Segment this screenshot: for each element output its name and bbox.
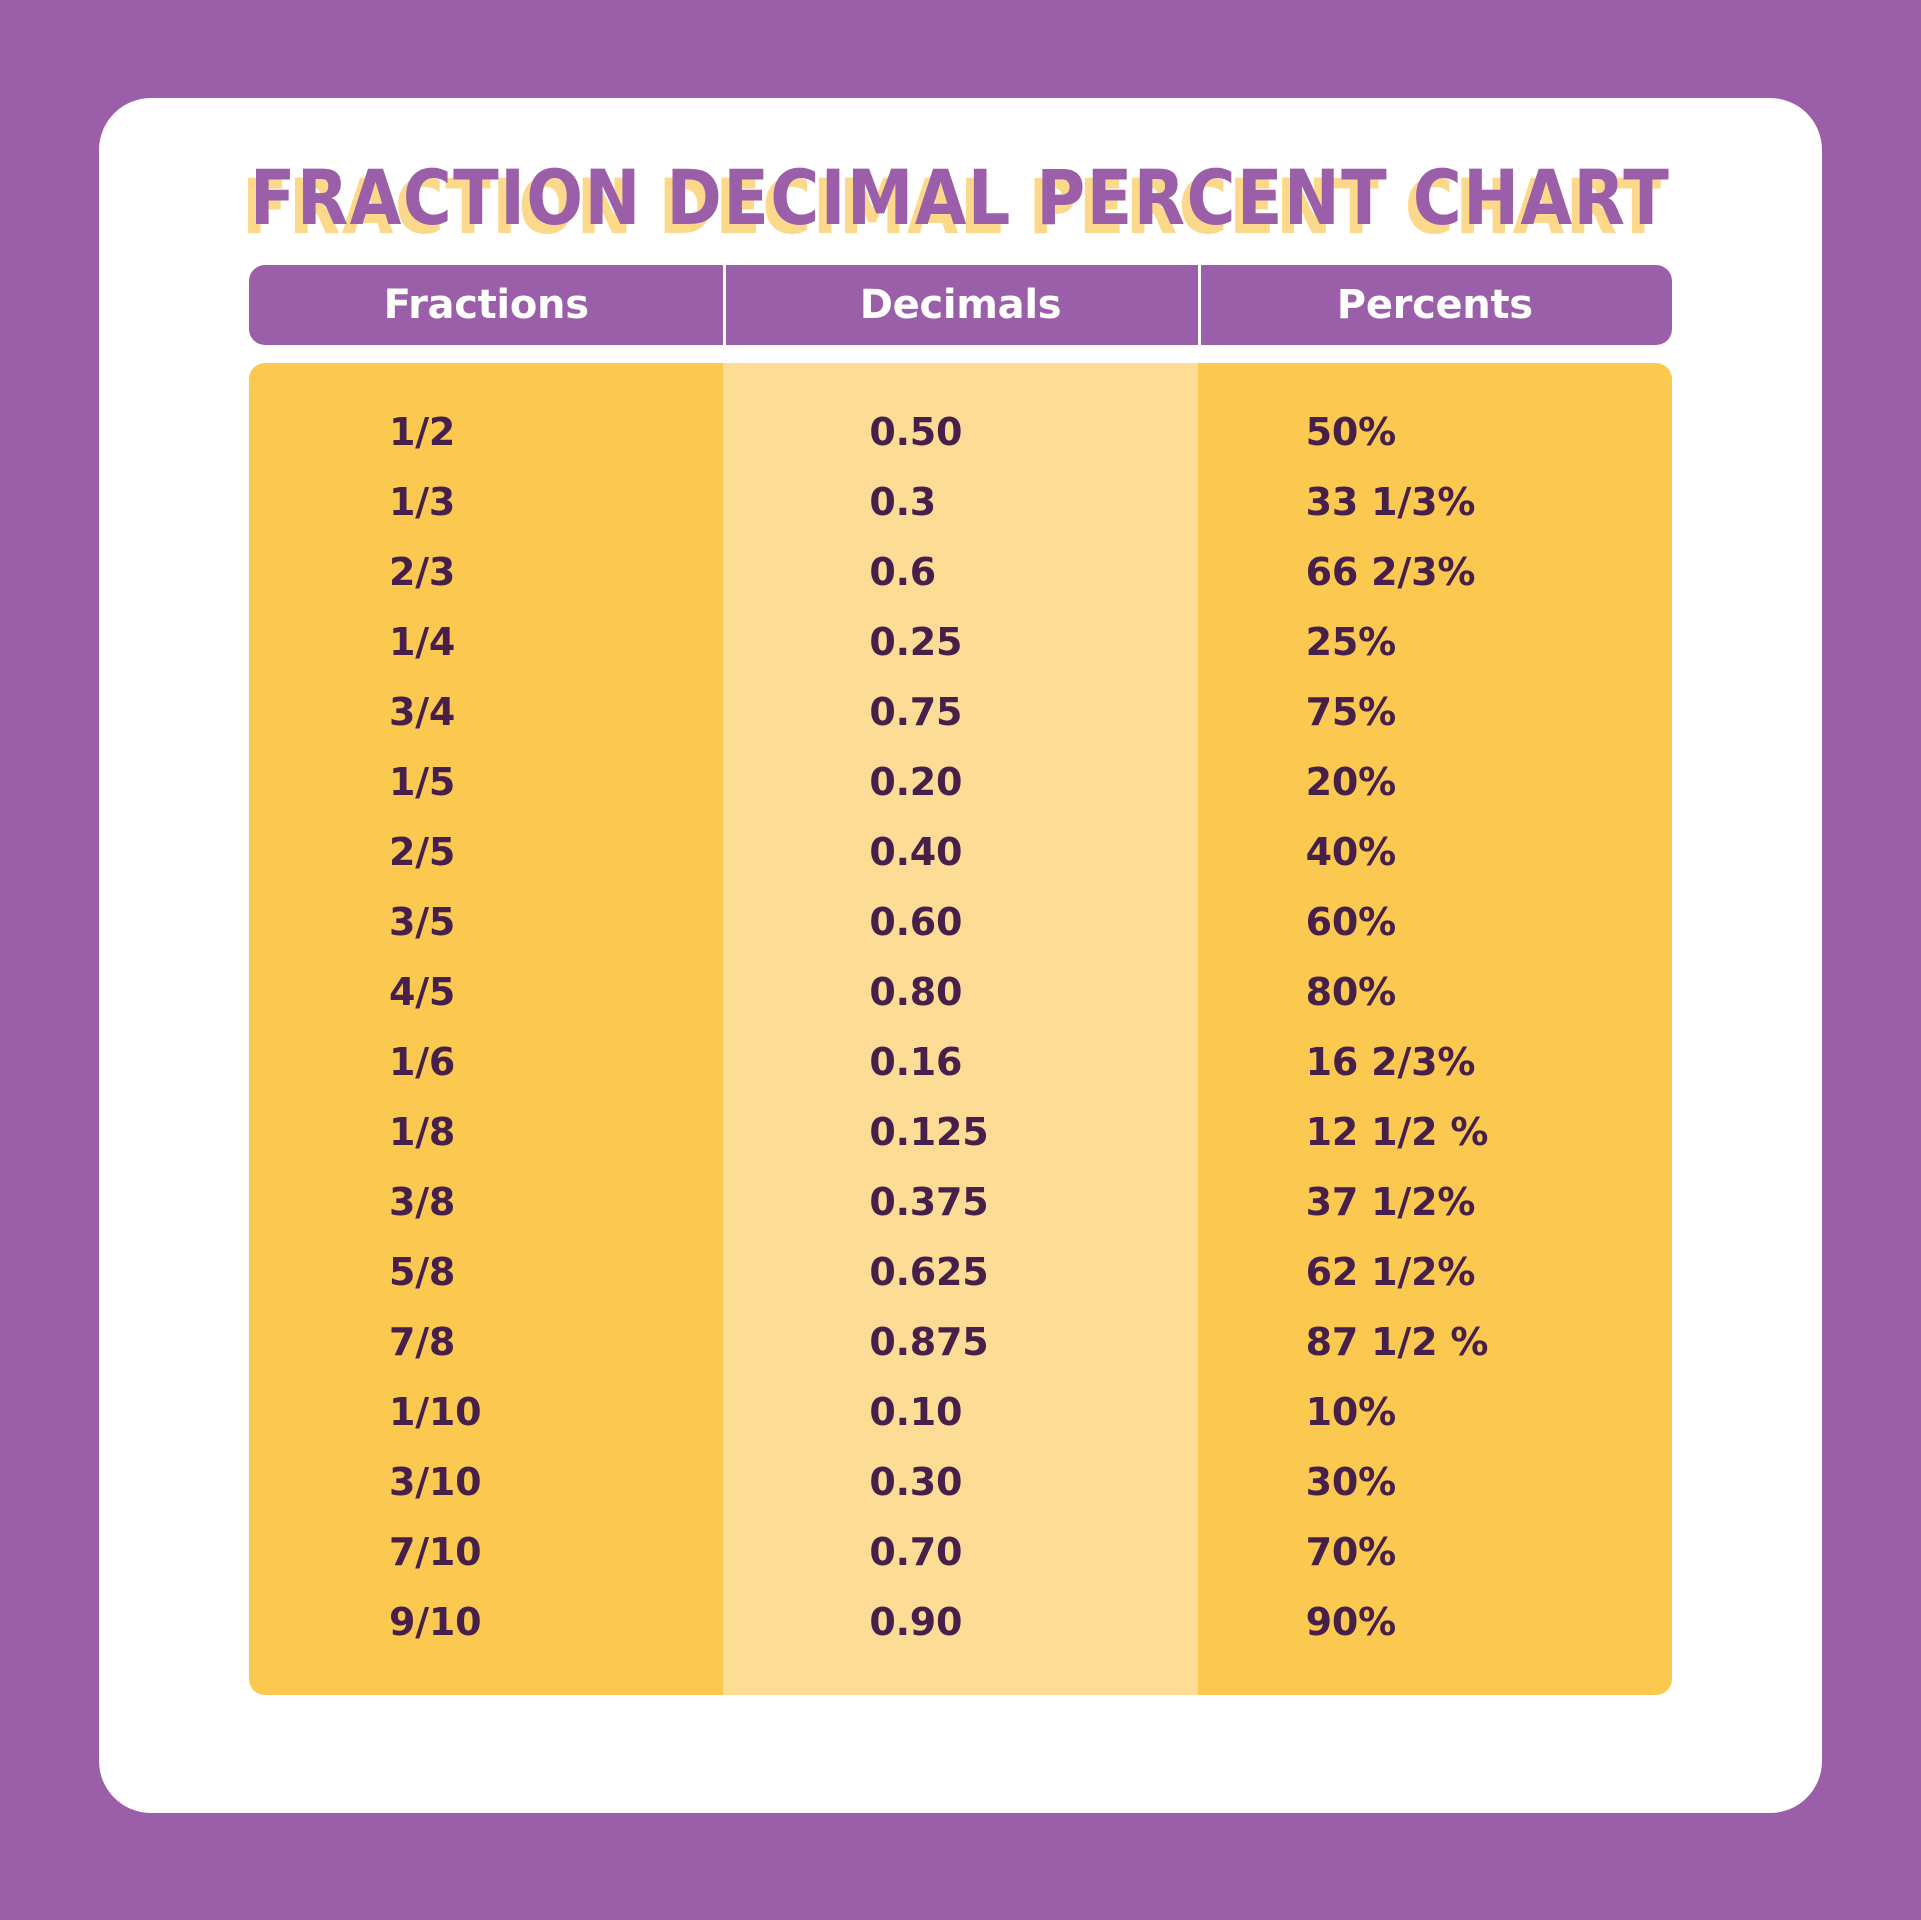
cell-decimal: 0.625 — [723, 1237, 1197, 1307]
cell-decimal: 0.375 — [723, 1167, 1197, 1237]
cell-fraction: 3/5 — [249, 887, 723, 957]
cell-percent: 10% — [1198, 1377, 1672, 1447]
cell-percent: 25% — [1198, 607, 1672, 677]
cell-decimal: 0.75 — [723, 677, 1197, 747]
column-header-fractions-label: Fractions — [384, 282, 589, 328]
cell-percent: 40% — [1198, 817, 1672, 887]
cell-decimal: 0.90 — [723, 1587, 1197, 1657]
column-header-percents-label: Percents — [1337, 282, 1533, 328]
cell-percent: 16 2/3% — [1198, 1027, 1672, 1097]
page-title-container: FRACTION DECIMAL PERCENT CHART — [99, 160, 1822, 270]
cell-decimal: 0.125 — [723, 1097, 1197, 1167]
cell-fraction: 7/8 — [249, 1307, 723, 1377]
cell-percent: 90% — [1198, 1587, 1672, 1657]
cell-decimal: 0.16 — [723, 1027, 1197, 1097]
cell-percent: 12 1/2 % — [1198, 1097, 1672, 1167]
cell-decimal: 0.25 — [723, 607, 1197, 677]
cell-fraction: 1/2 — [249, 397, 723, 467]
cell-decimal: 0.6 — [723, 537, 1197, 607]
column-percents: 50%33 1/3%66 2/3%25%75%20%40%60%80%16 2/… — [1198, 363, 1672, 1695]
table-header-row: Fractions Decimals Percents — [249, 265, 1672, 345]
cell-decimal: 0.875 — [723, 1307, 1197, 1377]
column-header-decimals-label: Decimals — [860, 282, 1062, 328]
cell-percent: 80% — [1198, 957, 1672, 1027]
cell-fraction: 3/8 — [249, 1167, 723, 1237]
cell-decimal: 0.20 — [723, 747, 1197, 817]
cell-fraction: 7/10 — [249, 1517, 723, 1587]
cell-decimal: 0.40 — [723, 817, 1197, 887]
cell-decimal: 0.60 — [723, 887, 1197, 957]
cell-fraction: 9/10 — [249, 1587, 723, 1657]
cell-percent: 66 2/3% — [1198, 537, 1672, 607]
cell-decimal: 0.10 — [723, 1377, 1197, 1447]
cell-decimal: 0.50 — [723, 397, 1197, 467]
cell-fraction: 1/10 — [249, 1377, 723, 1447]
cell-fraction: 3/4 — [249, 677, 723, 747]
cell-fraction: 1/8 — [249, 1097, 723, 1167]
column-fractions: 1/21/32/31/43/41/52/53/54/51/61/83/85/87… — [249, 363, 723, 1695]
cell-fraction: 2/5 — [249, 817, 723, 887]
table-body: 1/21/32/31/43/41/52/53/54/51/61/83/85/87… — [249, 363, 1672, 1695]
cell-fraction: 2/3 — [249, 537, 723, 607]
cell-percent: 50% — [1198, 397, 1672, 467]
column-header-decimals: Decimals — [723, 265, 1197, 345]
column-decimals: 0.500.30.60.250.750.200.400.600.800.160.… — [723, 363, 1197, 1695]
cell-percent: 70% — [1198, 1517, 1672, 1587]
page-title: FRACTION DECIMAL PERCENT CHART — [250, 160, 1670, 236]
cell-fraction: 1/4 — [249, 607, 723, 677]
conversion-table: Fractions Decimals Percents 1/21/32/31/4… — [249, 265, 1672, 1695]
cell-decimal: 0.70 — [723, 1517, 1197, 1587]
content-card: FRACTION DECIMAL PERCENT CHART Fractions… — [99, 98, 1822, 1813]
cell-fraction: 1/3 — [249, 467, 723, 537]
cell-fraction: 3/10 — [249, 1447, 723, 1517]
cell-decimal: 0.3 — [723, 467, 1197, 537]
cell-percent: 30% — [1198, 1447, 1672, 1517]
cell-percent: 60% — [1198, 887, 1672, 957]
cell-percent: 20% — [1198, 747, 1672, 817]
cell-percent: 37 1/2% — [1198, 1167, 1672, 1237]
cell-percent: 87 1/2 % — [1198, 1307, 1672, 1377]
cell-fraction: 1/6 — [249, 1027, 723, 1097]
cell-percent: 62 1/2% — [1198, 1237, 1672, 1307]
cell-percent: 33 1/3% — [1198, 467, 1672, 537]
cell-decimal: 0.80 — [723, 957, 1197, 1027]
cell-fraction: 1/5 — [249, 747, 723, 817]
column-header-percents: Percents — [1198, 265, 1672, 345]
cell-percent: 75% — [1198, 677, 1672, 747]
cell-decimal: 0.30 — [723, 1447, 1197, 1517]
column-header-fractions: Fractions — [249, 265, 723, 345]
cell-fraction: 5/8 — [249, 1237, 723, 1307]
cell-fraction: 4/5 — [249, 957, 723, 1027]
page-root: FRACTION DECIMAL PERCENT CHART Fractions… — [0, 0, 1921, 1920]
